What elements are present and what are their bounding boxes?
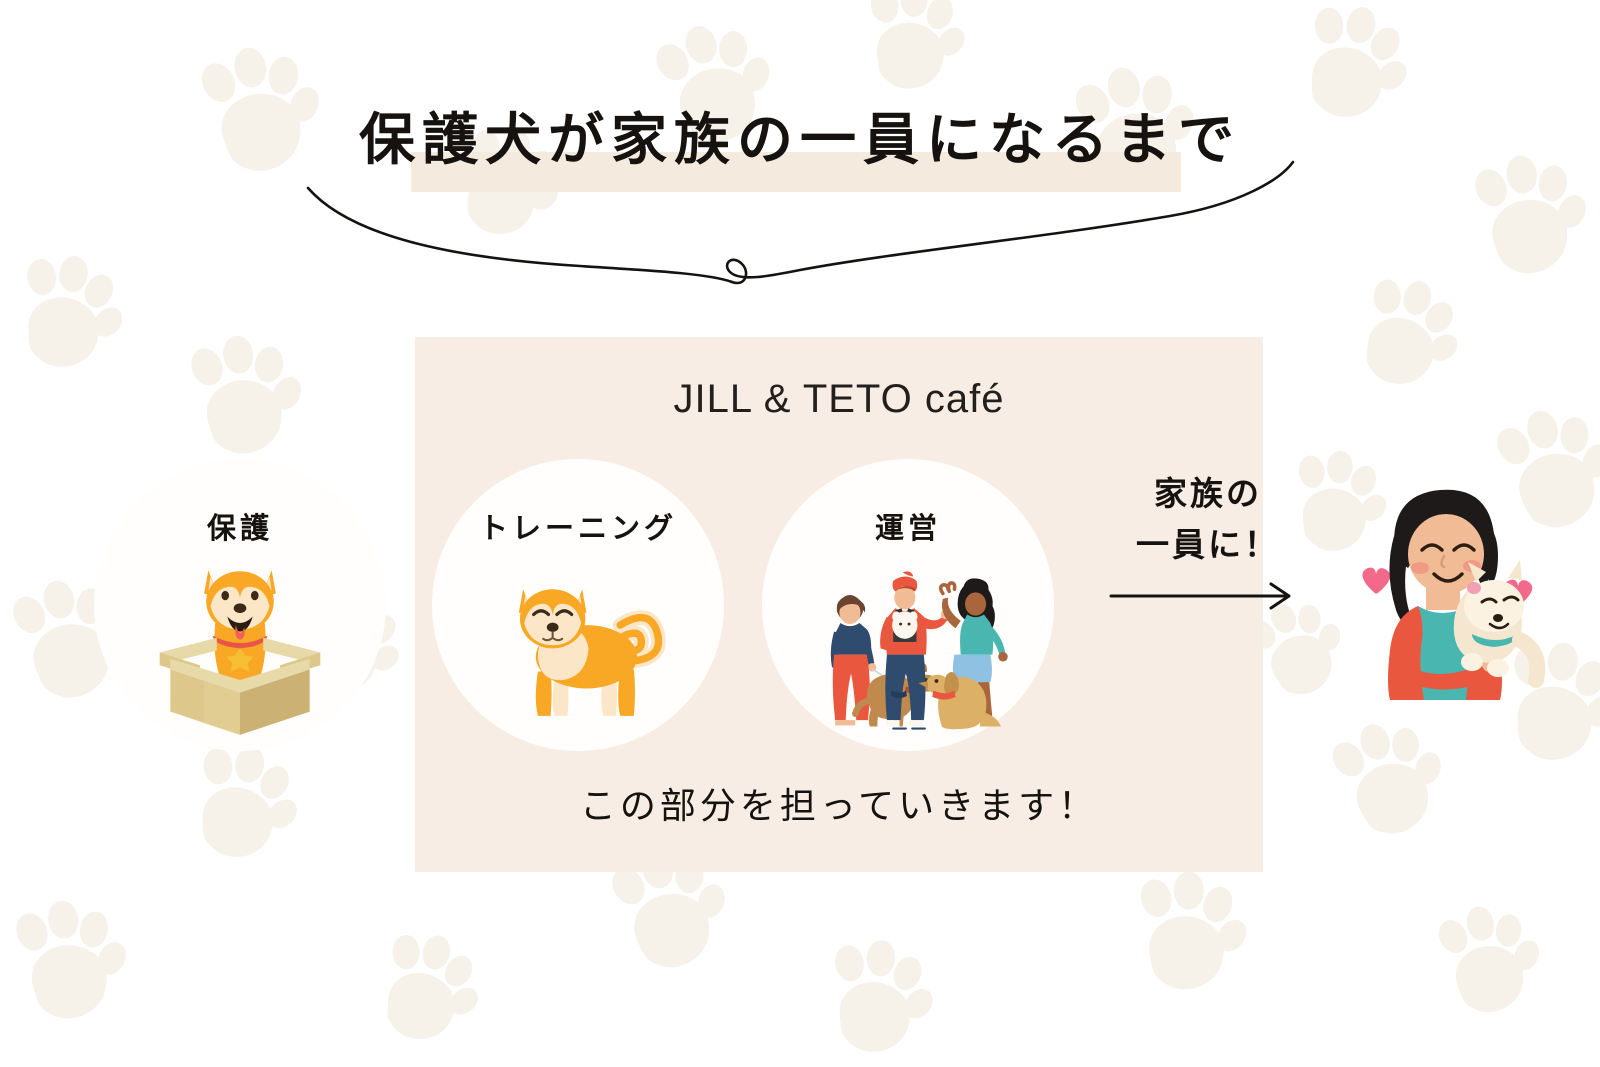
dog-in-box-icon [94, 547, 386, 737]
outcome-line-1: 家族の [1108, 468, 1308, 519]
step-circle-rescue[interactable]: 保護 [94, 459, 386, 751]
step-label-operation: 運営 [762, 505, 1054, 547]
step-circle-operation[interactable]: 運営 [762, 459, 1054, 751]
right-arrow-icon [1105, 572, 1300, 620]
outcome-label: 家族の 一員に！ [1108, 468, 1308, 570]
step-label-rescue: 保護 [94, 505, 386, 547]
step-label-training: トレーニング [432, 505, 724, 547]
woman-hugging-dog-icon [1322, 470, 1562, 700]
card-caption: この部分を担っていきます！ [415, 777, 1263, 829]
people-with-dogs-icon [762, 547, 1054, 737]
brand-title: JILL & TETO café [415, 377, 1263, 422]
decorative-brace-icon [280, 140, 1320, 290]
standing-shiba-icon [432, 547, 724, 737]
infographic-canvas: 保護犬が家族の一員になるまで JILL & TETO café この部分を担って… [0, 0, 1600, 1067]
outcome-line-2: 一員に！ [1108, 519, 1308, 570]
step-circle-training[interactable]: トレーニング [432, 459, 724, 751]
